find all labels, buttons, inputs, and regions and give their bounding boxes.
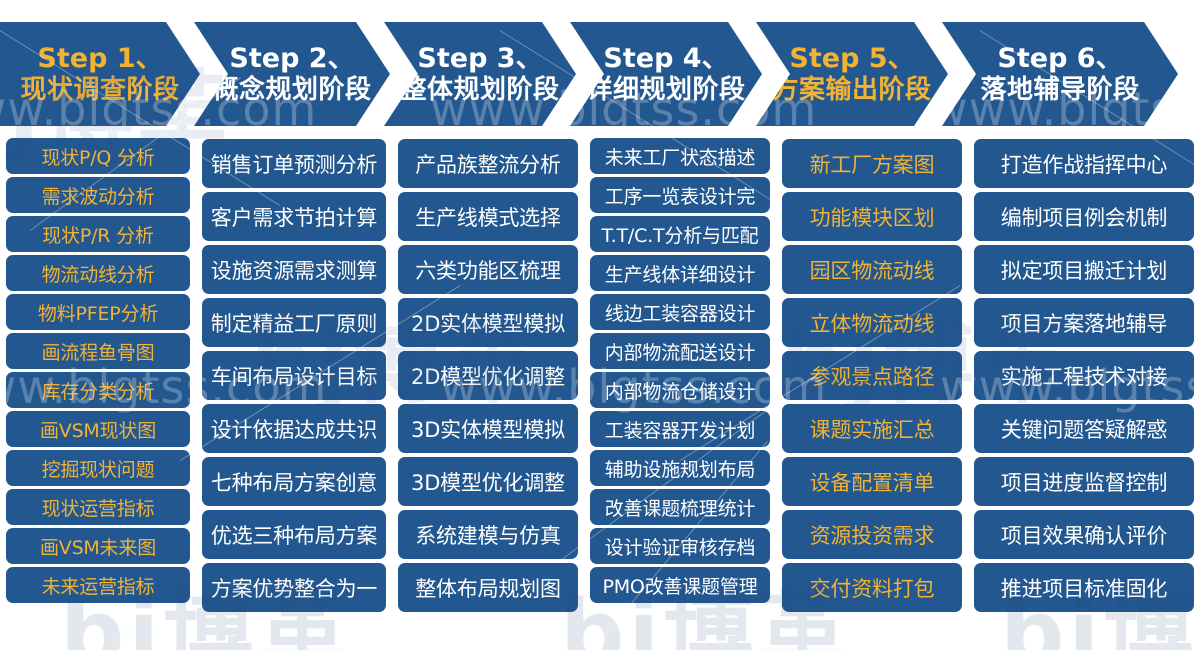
step-columns: 现状P/Q 分析需求波动分析现状P/R 分析物流动线分析物料PFEP分析画流程鱼… [0, 136, 1200, 616]
task-item[interactable]: 关键问题答疑解惑 [974, 404, 1194, 453]
task-item[interactable]: 项目方案落地辅导 [974, 298, 1194, 347]
task-item[interactable]: 工序一览表设计完 [590, 177, 770, 213]
task-item[interactable]: 车间布局设计目标 [202, 351, 386, 400]
task-item[interactable]: 方案优势整合为一 [202, 563, 386, 612]
task-item[interactable]: 未来工厂状态描述 [590, 138, 770, 174]
task-item[interactable]: 七种布局方案创意 [202, 457, 386, 506]
step-column-5: 新工厂方案图功能模块区划园区物流动线立体物流动线参观景点路径课题实施汇总设备配置… [776, 136, 968, 616]
step-column-6: 打造作战指挥中心编制项目例会机制拟定项目搬迁计划项目方案落地辅导实施工程技术对接… [968, 136, 1200, 616]
step-arrow-3[interactable]: Step 3、整体规划阶段 [384, 22, 576, 126]
step-arrow-2[interactable]: Step 2、概念规划阶段 [194, 22, 390, 126]
task-item[interactable]: 物流动线分析 [6, 255, 190, 291]
task-item[interactable]: 物料PFEP分析 [6, 294, 190, 330]
task-item[interactable]: 设计依据达成共识 [202, 404, 386, 453]
task-item[interactable]: 生产线体详细设计 [590, 255, 770, 291]
task-item[interactable]: 交付资料打包 [782, 563, 962, 612]
step-header-row: Step 1、现状调查阶段Step 2、概念规划阶段Step 3、整体规划阶段S… [0, 22, 1200, 126]
task-item[interactable]: T.T/C.T分析与匹配 [590, 216, 770, 252]
task-item[interactable]: 2D实体模型模拟 [398, 298, 578, 347]
task-item[interactable]: 辅助设施规划布局 [590, 450, 770, 486]
step-arrow-number-5: Step 5、 [789, 43, 914, 74]
step-arrow-title-1: 现状调查阶段 [20, 76, 179, 106]
step-arrow-number-1: Step 1、 [37, 43, 162, 74]
task-item[interactable]: 改善课题梳理统计 [590, 489, 770, 525]
task-item[interactable]: 项目进度监督控制 [974, 457, 1194, 506]
task-item[interactable]: 需求波动分析 [6, 177, 190, 213]
step-column-4: 未来工厂状态描述工序一览表设计完T.T/C.T分析与匹配生产线体详细设计线边工装… [584, 136, 776, 616]
task-item[interactable]: 整体布局规划图 [398, 563, 578, 612]
task-item[interactable]: 课题实施汇总 [782, 404, 962, 453]
task-item[interactable]: 客户需求节拍计算 [202, 192, 386, 241]
task-item[interactable]: 立体物流动线 [782, 298, 962, 347]
task-item[interactable]: 内部物流仓储设计 [590, 372, 770, 408]
task-item[interactable]: 画流程鱼骨图 [6, 333, 190, 369]
task-item[interactable]: 新工厂方案图 [782, 139, 962, 188]
task-item[interactable]: 参观景点路径 [782, 351, 962, 400]
task-item[interactable]: 现状P/R 分析 [6, 216, 190, 252]
step-arrow-title-3: 整体规划阶段 [400, 76, 559, 106]
task-item[interactable]: 未来运营指标 [6, 567, 190, 603]
task-item[interactable]: 制定精益工厂原则 [202, 298, 386, 347]
task-item[interactable]: 3D实体模型模拟 [398, 404, 578, 453]
step-arrow-number-2: Step 2、 [229, 43, 354, 74]
step-column-1: 现状P/Q 分析需求波动分析现状P/R 分析物流动线分析物料PFEP分析画流程鱼… [0, 136, 196, 616]
task-item[interactable]: 工装容器开发计划 [590, 411, 770, 447]
task-item[interactable]: 内部物流配送设计 [590, 333, 770, 369]
step-arrow-number-4: Step 4、 [603, 43, 728, 74]
task-item[interactable]: 实施工程技术对接 [974, 351, 1194, 400]
task-item[interactable]: 系统建模与仿真 [398, 510, 578, 559]
task-item[interactable]: 现状P/Q 分析 [6, 138, 190, 174]
task-item[interactable]: 画VSM未来图 [6, 528, 190, 564]
task-item[interactable]: 销售订单预测分析 [202, 139, 386, 188]
step-arrow-4[interactable]: Step 4、详细规划阶段 [570, 22, 762, 126]
task-item[interactable]: 园区物流动线 [782, 245, 962, 294]
step-arrow-title-6: 落地辅导阶段 [980, 76, 1139, 106]
task-item[interactable]: 库存分类分析 [6, 372, 190, 408]
step-arrow-title-4: 详细规划阶段 [586, 76, 745, 106]
step-arrow-6[interactable]: Step 6、落地辅导阶段 [942, 22, 1178, 126]
step-column-2: 销售订单预测分析客户需求节拍计算设施资源需求测算制定精益工厂原则车间布局设计目标… [196, 136, 392, 616]
task-item[interactable]: 优选三种布局方案 [202, 510, 386, 559]
task-item[interactable]: 设施资源需求测算 [202, 245, 386, 294]
task-item[interactable]: 打造作战指挥中心 [974, 139, 1194, 188]
task-item[interactable]: 项目效果确认评价 [974, 510, 1194, 559]
task-item[interactable]: 资源投资需求 [782, 510, 962, 559]
task-item[interactable]: 设计验证审核存档 [590, 528, 770, 564]
step-arrow-5[interactable]: Step 5、方案输出阶段 [756, 22, 948, 126]
task-item[interactable]: 现状运营指标 [6, 489, 190, 525]
task-item[interactable]: 设备配置清单 [782, 457, 962, 506]
task-item[interactable]: 画VSM现状图 [6, 411, 190, 447]
step-arrow-title-2: 概念规划阶段 [212, 76, 371, 106]
step-column-3: 产品族整流分析生产线模式选择六类功能区梳理2D实体模型模拟2D模型优化调整3D实… [392, 136, 584, 616]
task-item[interactable]: PMO改善课题管理 [590, 567, 770, 603]
step-arrow-number-6: Step 6、 [997, 43, 1122, 74]
step-arrow-title-5: 方案输出阶段 [772, 76, 931, 106]
infographic-root: Step 1、现状调查阶段Step 2、概念规划阶段Step 3、整体规划阶段S… [0, 0, 1200, 650]
task-item[interactable]: 2D模型优化调整 [398, 351, 578, 400]
task-item[interactable]: 产品族整流分析 [398, 139, 578, 188]
task-item[interactable]: 功能模块区划 [782, 192, 962, 241]
task-item[interactable]: 推进项目标准固化 [974, 563, 1194, 612]
step-arrow-1[interactable]: Step 1、现状调查阶段 [0, 22, 200, 126]
step-arrow-number-3: Step 3、 [417, 43, 542, 74]
task-item[interactable]: 六类功能区梳理 [398, 245, 578, 294]
task-item[interactable]: 挖掘现状问题 [6, 450, 190, 486]
task-item[interactable]: 生产线模式选择 [398, 192, 578, 241]
task-item[interactable]: 线边工装容器设计 [590, 294, 770, 330]
task-item[interactable]: 3D模型优化调整 [398, 457, 578, 506]
task-item[interactable]: 编制项目例会机制 [974, 192, 1194, 241]
task-item[interactable]: 拟定项目搬迁计划 [974, 245, 1194, 294]
